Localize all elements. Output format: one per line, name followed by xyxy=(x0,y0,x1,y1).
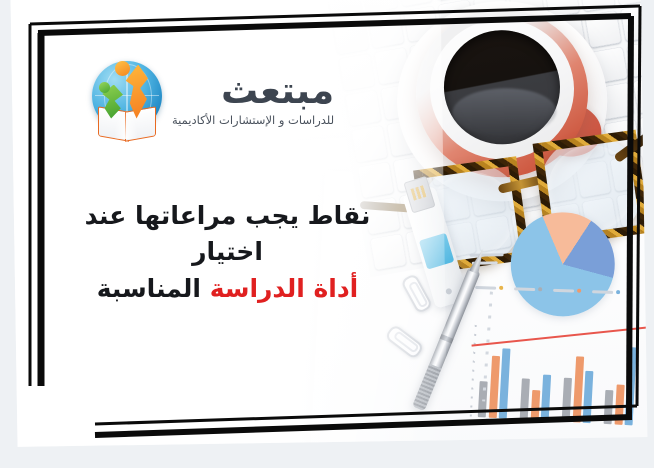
logo-text-block: مبتعث للدراسات و الإستشارات الأكاديمية xyxy=(172,72,334,127)
headline-line-2: أداة الدراسة المناسبة xyxy=(55,271,400,307)
logo-subtitle: للدراسات و الإستشارات الأكاديمية xyxy=(172,115,334,127)
headline-highlight: أداة الدراسة xyxy=(210,274,359,303)
poster-canvas: مبتعث للدراسات و الإستشارات الأكاديمية ن xyxy=(0,0,654,468)
brand-logo[interactable]: مبتعث للدراسات و الإستشارات الأكاديمية xyxy=(88,52,348,147)
person-head-green-icon xyxy=(99,82,110,93)
logo-wordmark: مبتعث xyxy=(172,72,334,109)
logo-mark-icon xyxy=(88,59,166,141)
poster-content: مبتعث للدراسات و الإستشارات الأكاديمية ن xyxy=(0,0,654,468)
page-title: نقاط يجب مراعاتها عند اختيار أداة الدراس… xyxy=(55,198,400,307)
person-head-orange-icon xyxy=(115,61,130,76)
headline-rest: المناسبة xyxy=(97,274,210,303)
headline-line-1: نقاط يجب مراعاتها عند اختيار xyxy=(85,201,371,266)
